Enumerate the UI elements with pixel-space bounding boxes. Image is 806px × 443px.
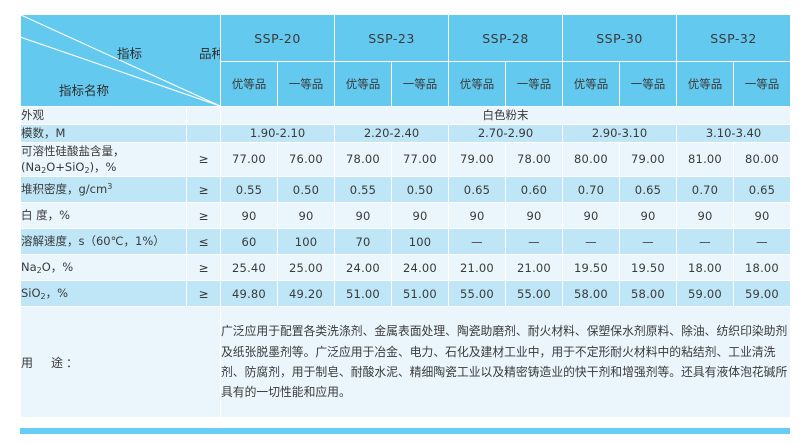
cell: 21.00 xyxy=(506,255,563,281)
corner-sub-label: 指标名称 xyxy=(59,80,109,99)
grade-ssp30-first: 一等品 xyxy=(620,62,677,107)
row-label-whiteness: 白 度，% xyxy=(21,203,187,229)
cell: 60 xyxy=(221,229,278,255)
usage-text: 广泛应用于配置各类洗涤剂、金属表面处理、陶瓷助磨剂、耐火材料、保塑保水剂原料、除… xyxy=(221,307,791,418)
cell: 24.00 xyxy=(392,255,449,281)
cell: 0.60 xyxy=(506,177,563,203)
table-row: 可溶性硅酸盐含量， (Na2O+SiO2)，% ≥ 77.00 76.00 78… xyxy=(21,142,791,176)
cell: 80.00 xyxy=(563,142,620,176)
cell: 90 xyxy=(506,203,563,229)
table-row: Na2O，% ≥ 25.40 25.00 24.00 24.00 21.00 2… xyxy=(21,255,791,281)
cell: 51.00 xyxy=(335,281,392,307)
cell: 90 xyxy=(620,203,677,229)
cell: 77.00 xyxy=(392,142,449,176)
cell: 90 xyxy=(335,203,392,229)
cell: 90 xyxy=(563,203,620,229)
cell: — xyxy=(677,229,734,255)
grade-ssp28-first: 一等品 xyxy=(506,62,563,107)
table-row: 模数，M 1.90-2.10 2.20-2.40 2.70-2.90 2.90-… xyxy=(21,124,791,142)
cell: 0.70 xyxy=(563,177,620,203)
product-group-ssp20: SSP-20 xyxy=(221,15,335,62)
cell: 78.00 xyxy=(335,142,392,176)
cell: 59.00 xyxy=(734,281,791,307)
cell: 0.65 xyxy=(449,177,506,203)
cell: 21.00 xyxy=(449,255,506,281)
cell: 49.80 xyxy=(221,281,278,307)
cell: 77.00 xyxy=(221,142,278,176)
row-symbol-whiteness: ≥ xyxy=(187,203,221,229)
grade-ssp30-premium: 优等品 xyxy=(563,62,620,107)
cell: 24.00 xyxy=(335,255,392,281)
table-row: SiO2，% ≥ 49.80 49.20 51.00 51.00 55.00 5… xyxy=(21,281,791,307)
usage-row: 用 途： 广泛应用于配置各类洗涤剂、金属表面处理、陶瓷助磨剂、耐火材料、保塑保水… xyxy=(21,307,791,418)
row-value-appearance-merged: 白色粉末 xyxy=(221,107,791,125)
row-label-na2o: Na2O，% xyxy=(21,255,187,281)
row-value-modulus-ssp32: 3.10-3.40 xyxy=(677,124,791,142)
cell: 90 xyxy=(221,203,278,229)
cell: 58.00 xyxy=(620,281,677,307)
grade-ssp32-premium: 优等品 xyxy=(677,62,734,107)
row-label-sio2: SiO2，% xyxy=(21,281,187,307)
cell: 55.00 xyxy=(449,281,506,307)
cell: — xyxy=(620,229,677,255)
table-header-products: 指标 品种 指标名称 SSP-20 SSP-23 SSP-28 SSP-30 S… xyxy=(21,15,791,62)
cell: 79.00 xyxy=(620,142,677,176)
cell: 90 xyxy=(449,203,506,229)
cell: 80.00 xyxy=(734,142,791,176)
row-label-dissolution-rate: 溶解速度，s（60℃，1%） xyxy=(21,229,187,255)
cell: — xyxy=(734,229,791,255)
table-row: 白 度，% ≥ 90 90 90 90 90 90 90 90 90 90 xyxy=(21,203,791,229)
row-label-bulk-density: 堆积密度，g/cm3 xyxy=(21,177,187,203)
cell: 81.00 xyxy=(677,142,734,176)
specification-table: 指标 品种 指标名称 SSP-20 SSP-23 SSP-28 SSP-30 S… xyxy=(20,14,791,418)
cell: 49.20 xyxy=(278,281,335,307)
product-group-ssp32: SSP-32 xyxy=(677,15,791,62)
cell: — xyxy=(563,229,620,255)
spec-sheet: 指标 品种 指标名称 SSP-20 SSP-23 SSP-28 SSP-30 S… xyxy=(0,0,806,443)
cell: 90 xyxy=(392,203,449,229)
row-label-line2: (Na2O+SiO2)，% xyxy=(21,160,116,174)
grade-ssp20-premium: 优等品 xyxy=(221,62,278,107)
row-label-modulus: 模数，M xyxy=(21,124,187,142)
row-symbol-modulus xyxy=(187,124,221,142)
cell: 76.00 xyxy=(278,142,335,176)
bottom-accent-bar xyxy=(20,428,790,434)
cell: 55.00 xyxy=(506,281,563,307)
cell: 18.00 xyxy=(677,255,734,281)
grade-ssp23-first: 一等品 xyxy=(392,62,449,107)
cell: 0.50 xyxy=(278,177,335,203)
cell: 0.65 xyxy=(620,177,677,203)
cell: 0.70 xyxy=(677,177,734,203)
corner-axis-col-label: 品种 xyxy=(199,43,221,62)
corner-axis-row-label: 指标 xyxy=(117,43,142,62)
row-symbol-bulk-density: ≥ xyxy=(187,177,221,203)
cell: 18.00 xyxy=(734,255,791,281)
cell: 0.50 xyxy=(392,177,449,203)
table-row: 外观 白色粉末 xyxy=(21,107,791,125)
table-row: 堆积密度，g/cm3 ≥ 0.55 0.50 0.55 0.50 0.65 0.… xyxy=(21,177,791,203)
row-symbol-appearance xyxy=(187,107,221,125)
grade-ssp23-premium: 优等品 xyxy=(335,62,392,107)
row-value-modulus-ssp20: 1.90-2.10 xyxy=(221,124,335,142)
corner-diagonal-header: 指标 品种 指标名称 xyxy=(21,15,221,107)
row-symbol-sio2: ≥ xyxy=(187,281,221,307)
cell: 25.00 xyxy=(278,255,335,281)
cell: 79.00 xyxy=(449,142,506,176)
cell: 19.50 xyxy=(563,255,620,281)
cell: 78.00 xyxy=(506,142,563,176)
product-group-ssp23: SSP-23 xyxy=(335,15,449,62)
row-symbol-na2o: ≥ xyxy=(187,255,221,281)
grade-ssp32-first: 一等品 xyxy=(734,62,791,107)
grade-ssp28-premium: 优等品 xyxy=(449,62,506,107)
cell: 25.40 xyxy=(221,255,278,281)
row-symbol-dissolution-rate: ≤ xyxy=(187,229,221,255)
table-row: 溶解速度，s（60℃，1%） ≤ 60 100 70 100 — — — — —… xyxy=(21,229,791,255)
cell: 0.55 xyxy=(335,177,392,203)
cell: — xyxy=(506,229,563,255)
cell: 58.00 xyxy=(563,281,620,307)
cell: 100 xyxy=(278,229,335,255)
product-group-ssp30: SSP-30 xyxy=(563,15,677,62)
row-label-appearance: 外观 xyxy=(21,107,187,125)
cell: 70 xyxy=(335,229,392,255)
grade-ssp20-first: 一等品 xyxy=(278,62,335,107)
cell: 0.65 xyxy=(734,177,791,203)
row-value-modulus-ssp23: 2.20-2.40 xyxy=(335,124,449,142)
cell: 19.50 xyxy=(620,255,677,281)
row-value-modulus-ssp30: 2.90-3.10 xyxy=(563,124,677,142)
row-value-modulus-ssp28: 2.70-2.90 xyxy=(449,124,563,142)
usage-label: 用 途： xyxy=(21,307,221,418)
cell: 90 xyxy=(278,203,335,229)
cell: 0.55 xyxy=(221,177,278,203)
cell: — xyxy=(449,229,506,255)
cell: 90 xyxy=(677,203,734,229)
product-group-ssp28: SSP-28 xyxy=(449,15,563,62)
row-label-line1: 可溶性硅酸盐含量， xyxy=(21,144,125,158)
cell: 100 xyxy=(392,229,449,255)
cell: 90 xyxy=(734,203,791,229)
cell: 51.00 xyxy=(392,281,449,307)
cell: 59.00 xyxy=(677,281,734,307)
row-label-soluble-silicate: 可溶性硅酸盐含量， (Na2O+SiO2)，% xyxy=(21,142,187,176)
row-symbol-soluble-silicate: ≥ xyxy=(187,142,221,176)
